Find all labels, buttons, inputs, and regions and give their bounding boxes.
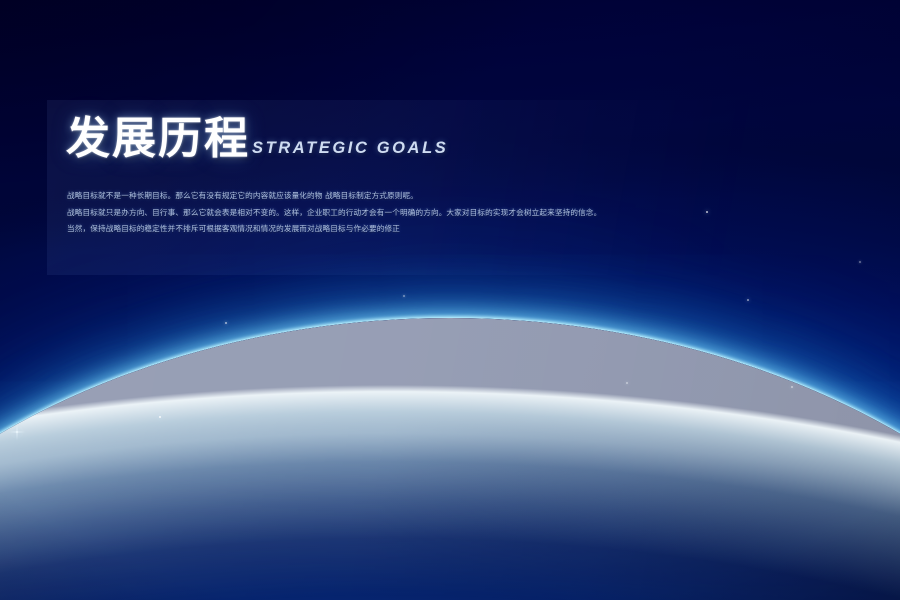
body-line: 战略目标就只是办方向、目行事、那么它就会表是相对不变的。这样，企业职工的行动才会… xyxy=(67,207,757,220)
banner-scene: 发展历程 STRATEGIC GOALS 战略目标就不是一种长期目标。那么它有没… xyxy=(0,0,900,600)
body-copy: 战略目标就不是一种长期目标。那么它有没有规定它的内容就应该量化的物 战略目标制定… xyxy=(67,190,757,240)
page-subtitle: STRATEGIC GOALS xyxy=(252,139,448,161)
body-line: 战略目标就不是一种长期目标。那么它有没有规定它的内容就应该量化的物 战略目标制定… xyxy=(67,190,757,203)
body-line: 当然，保持战略目标的稳定性并不排斥可根据客观情况和情况的发展而对战略目标与作必要… xyxy=(67,223,757,236)
page-title: 发展历程 xyxy=(66,117,250,161)
headline-group: 发展历程 STRATEGIC GOALS xyxy=(66,117,448,161)
